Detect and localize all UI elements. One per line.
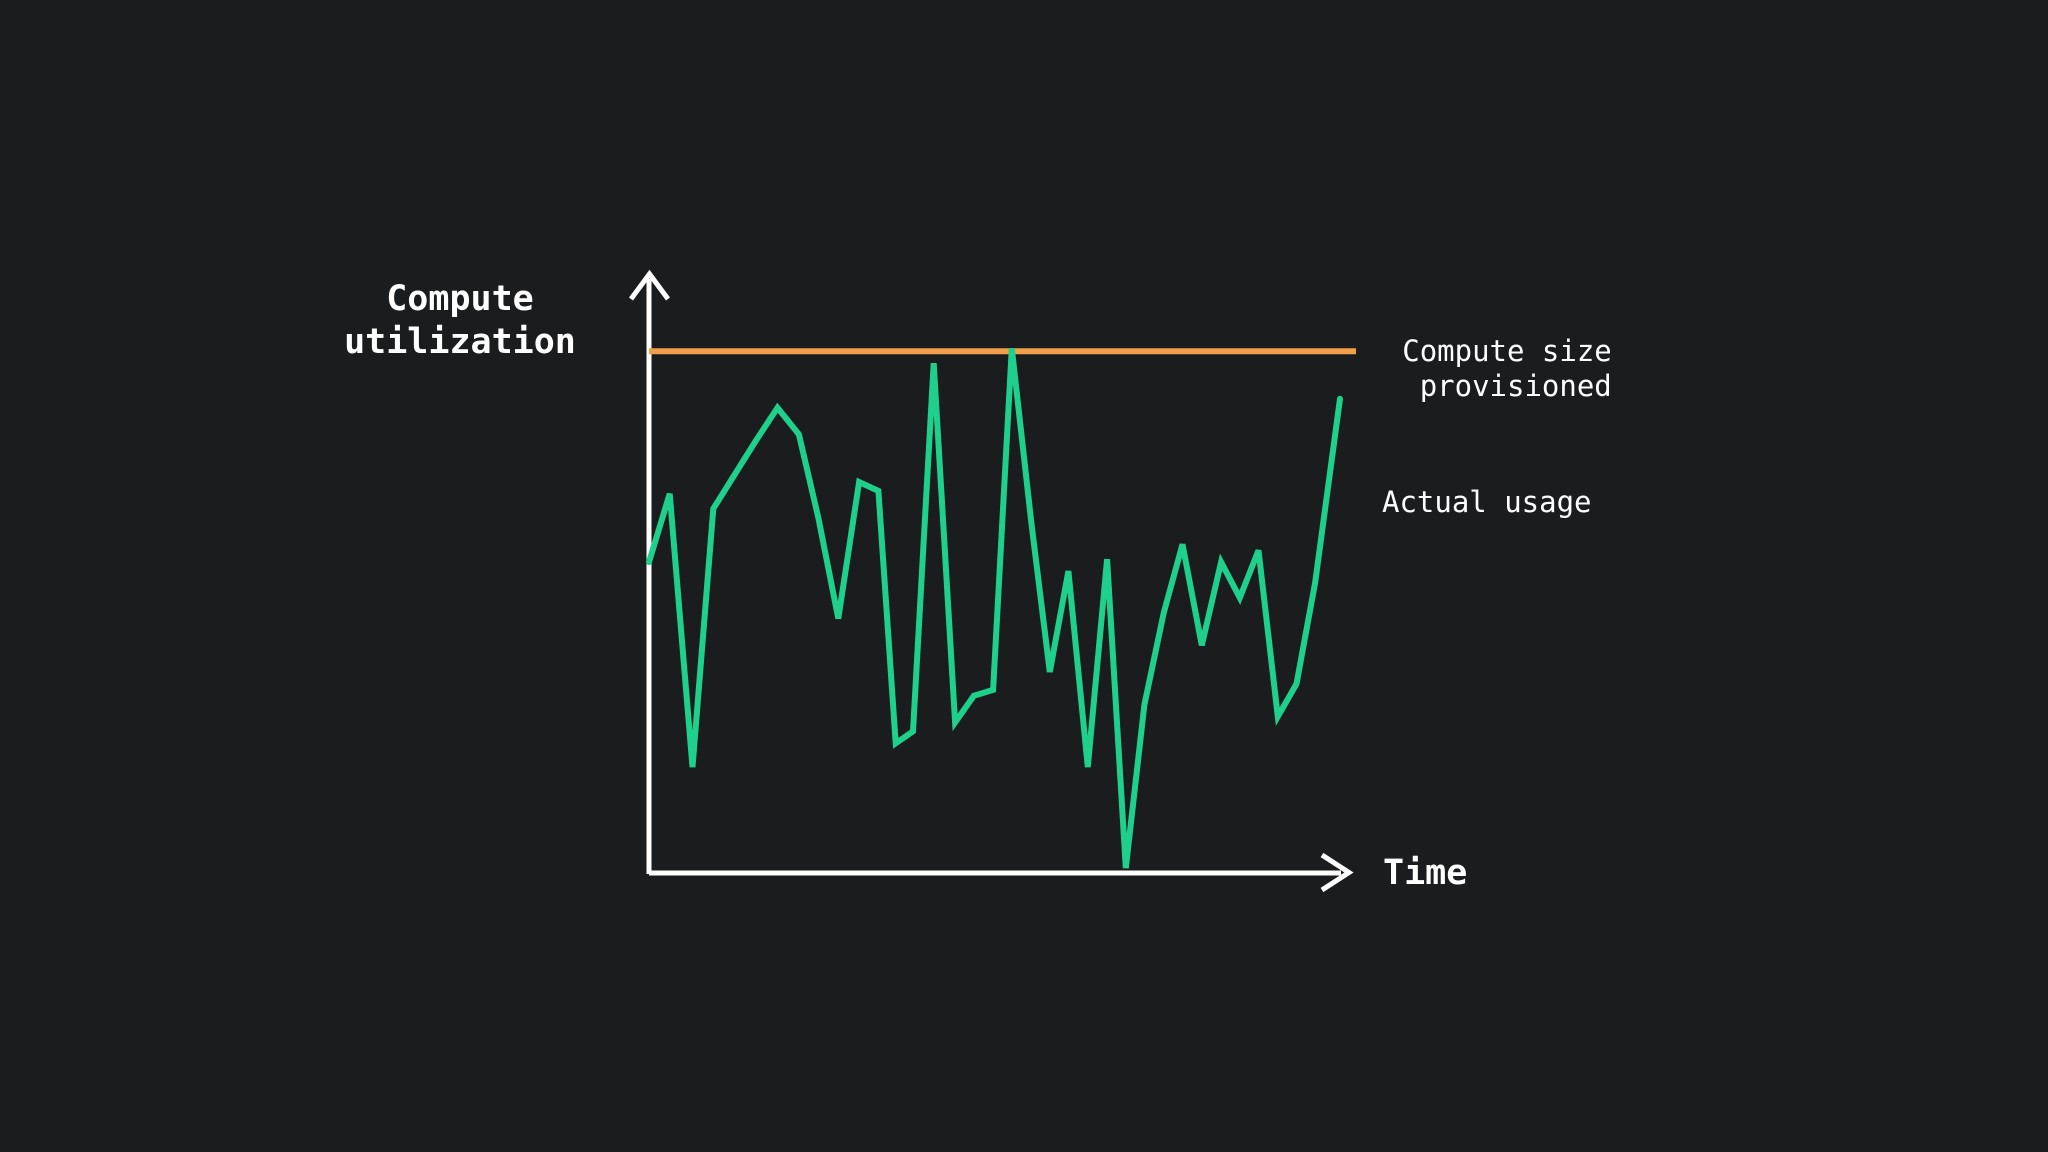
x-axis-title: Time <box>1383 852 1467 895</box>
x-axis <box>649 855 1349 890</box>
chart-canvas: Compute utilization Time Compute size pr… <box>0 0 2048 1152</box>
y-axis <box>631 274 668 874</box>
actual-usage-line <box>649 348 1340 868</box>
legend-label-actual: Actual usage <box>1382 485 1592 520</box>
y-axis-title: Compute utilization <box>310 278 610 363</box>
chart-svg <box>0 0 2048 1152</box>
legend-label-provisioned: Compute size provisioned <box>1382 334 1632 405</box>
